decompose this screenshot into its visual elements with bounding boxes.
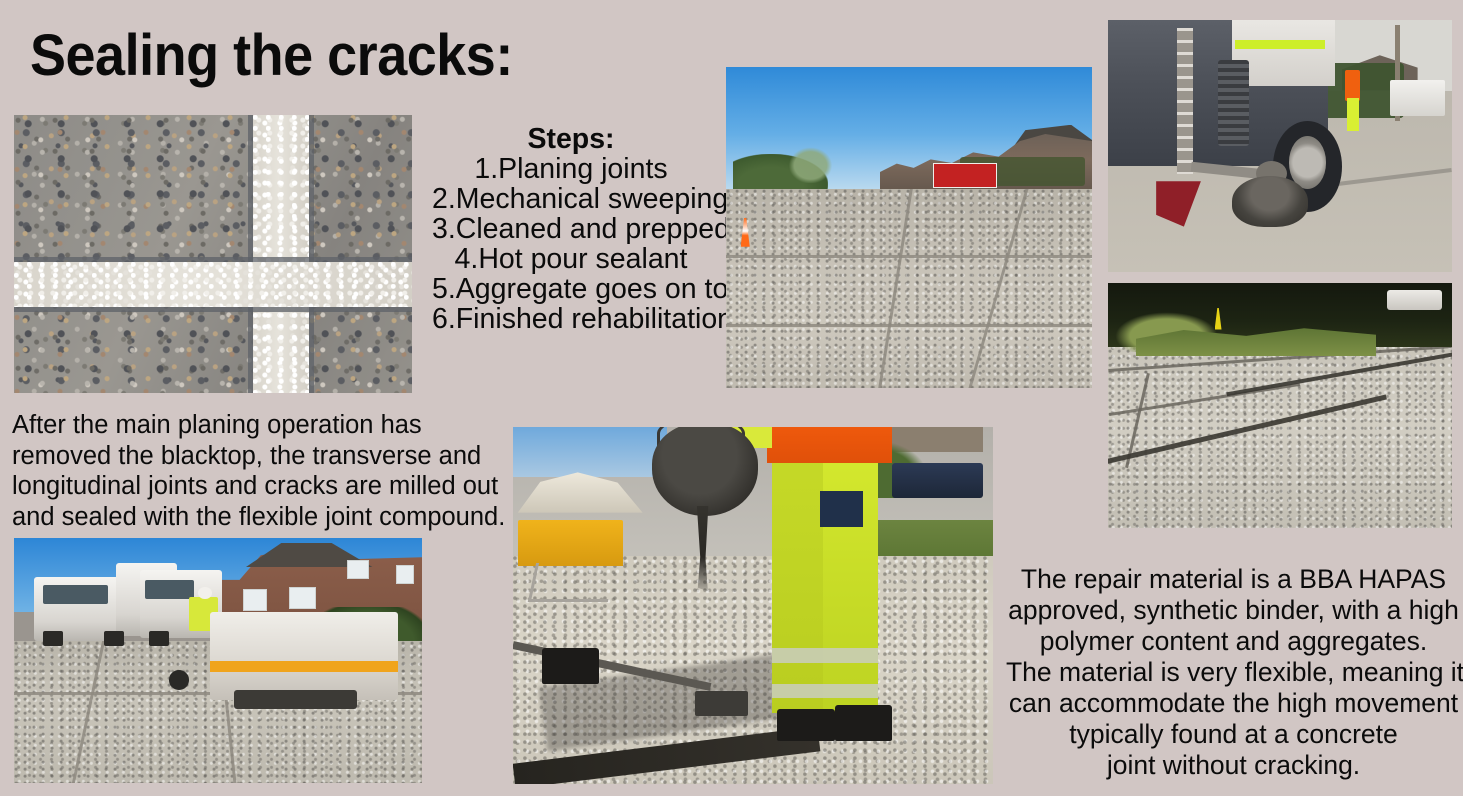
step-item-3: 3.Cleaned and prepped [432,214,710,244]
truck-windscreen [145,580,194,600]
bare-tree [785,144,836,183]
window [347,560,369,579]
wheelbarrow-frame [528,563,616,602]
photo-joint-closeup [14,115,412,393]
photo-hot-pour [513,427,993,784]
truck-windscreen [43,585,108,605]
worker-orange-vest [767,427,892,463]
joint-closeup-surface [14,115,412,393]
photo-concrete-street [726,67,1092,388]
left-paragraph-line-3: longitudinal joints and cracks are mille… [12,471,512,502]
slide-canvas: Sealing the cracks: Steps: 1.Planing joi… [0,0,1463,796]
step-item-4: 4.Hot pour sealant [432,244,710,274]
step-item-6: 6.Finished rehabilitation [432,304,710,334]
sweeper-brush [1232,176,1308,226]
sky [513,427,667,477]
hopper-green-stripe [1235,40,1324,49]
window [289,587,315,609]
left-paragraph: After the main planing operation has rem… [12,410,512,532]
support-van [1390,80,1445,115]
worker-boot-background [542,648,600,684]
red-works-sign [933,163,997,187]
concrete-street-scene [726,67,1092,388]
joint-vertical [253,115,309,393]
cutting-drum-housing [234,690,356,710]
worker-boot-right [835,705,893,741]
joint-horizontal [14,262,412,306]
concrete-slabs [726,189,1092,388]
reflective-band [772,684,878,698]
reflective-band [772,648,878,662]
right-paragraph-line-2: approved, synthetic binder, with a high [1006,595,1461,626]
window [243,589,267,611]
right-paragraph-line-6: typically found at a concrete [1006,719,1461,750]
right-paragraph: The repair material is a BBA HAPAS appro… [1006,564,1461,781]
cleaned-joints-scene [1108,283,1452,528]
road-sweeper-scene [1108,20,1452,272]
truck-wheel [104,631,124,646]
truck-wheel [149,631,169,646]
worker-hi-vis-vest [1345,70,1359,100]
step-item-2: 2.Mechanical sweeping [432,184,710,214]
worker-boot-left [777,709,835,741]
trouser-pocket [820,491,863,527]
photo-cleaned-joints [1108,283,1452,528]
photo-planing-machine [14,538,422,783]
parked-pickup [892,463,983,499]
suction-bellows [1218,60,1249,146]
truck-wheel [43,631,63,646]
steps-heading: Steps: [432,124,710,154]
right-paragraph-line-5: can accommodate the high movement [1006,688,1461,719]
step-item-5: 5.Aggregate goes on top [432,274,710,304]
worker-trouser-leg [772,434,822,712]
steps-block: Steps: 1.Planing joints 2.Mechanical swe… [432,124,710,334]
right-paragraph-line-3: polymer content and aggregates. [1006,626,1461,657]
planing-machine-scene [14,538,422,783]
photo-road-sweeper [1108,20,1452,272]
right-paragraph-line-7: joint without cracking. [1006,750,1461,781]
step-item-1: 1.Planing joints [432,154,710,184]
hot-pour-scene [513,427,993,784]
ladder [1177,28,1193,174]
aggregate-texture [14,115,412,393]
right-paragraph-line-1: The repair material is a BBA HAPAS [1006,564,1461,595]
left-paragraph-line-2: removed the blacktop, the transverse and [12,441,512,472]
machine-orange-band [210,661,398,672]
squeegee-head [695,691,748,716]
window [396,565,414,584]
page-title: Sealing the cracks: [30,26,513,87]
parked-car [1387,290,1442,310]
wheelbarrow [518,520,624,566]
planing-machine-body [210,612,398,700]
concrete-road [1108,342,1452,528]
worker-hi-vis-trousers [1347,98,1359,131]
left-paragraph-line-4: and sealed with the flexible joint compo… [12,502,512,533]
left-paragraph-line-1: After the main planing operation has [12,410,512,441]
right-paragraph-line-4: The material is very flexible, meaning i… [1006,657,1461,688]
